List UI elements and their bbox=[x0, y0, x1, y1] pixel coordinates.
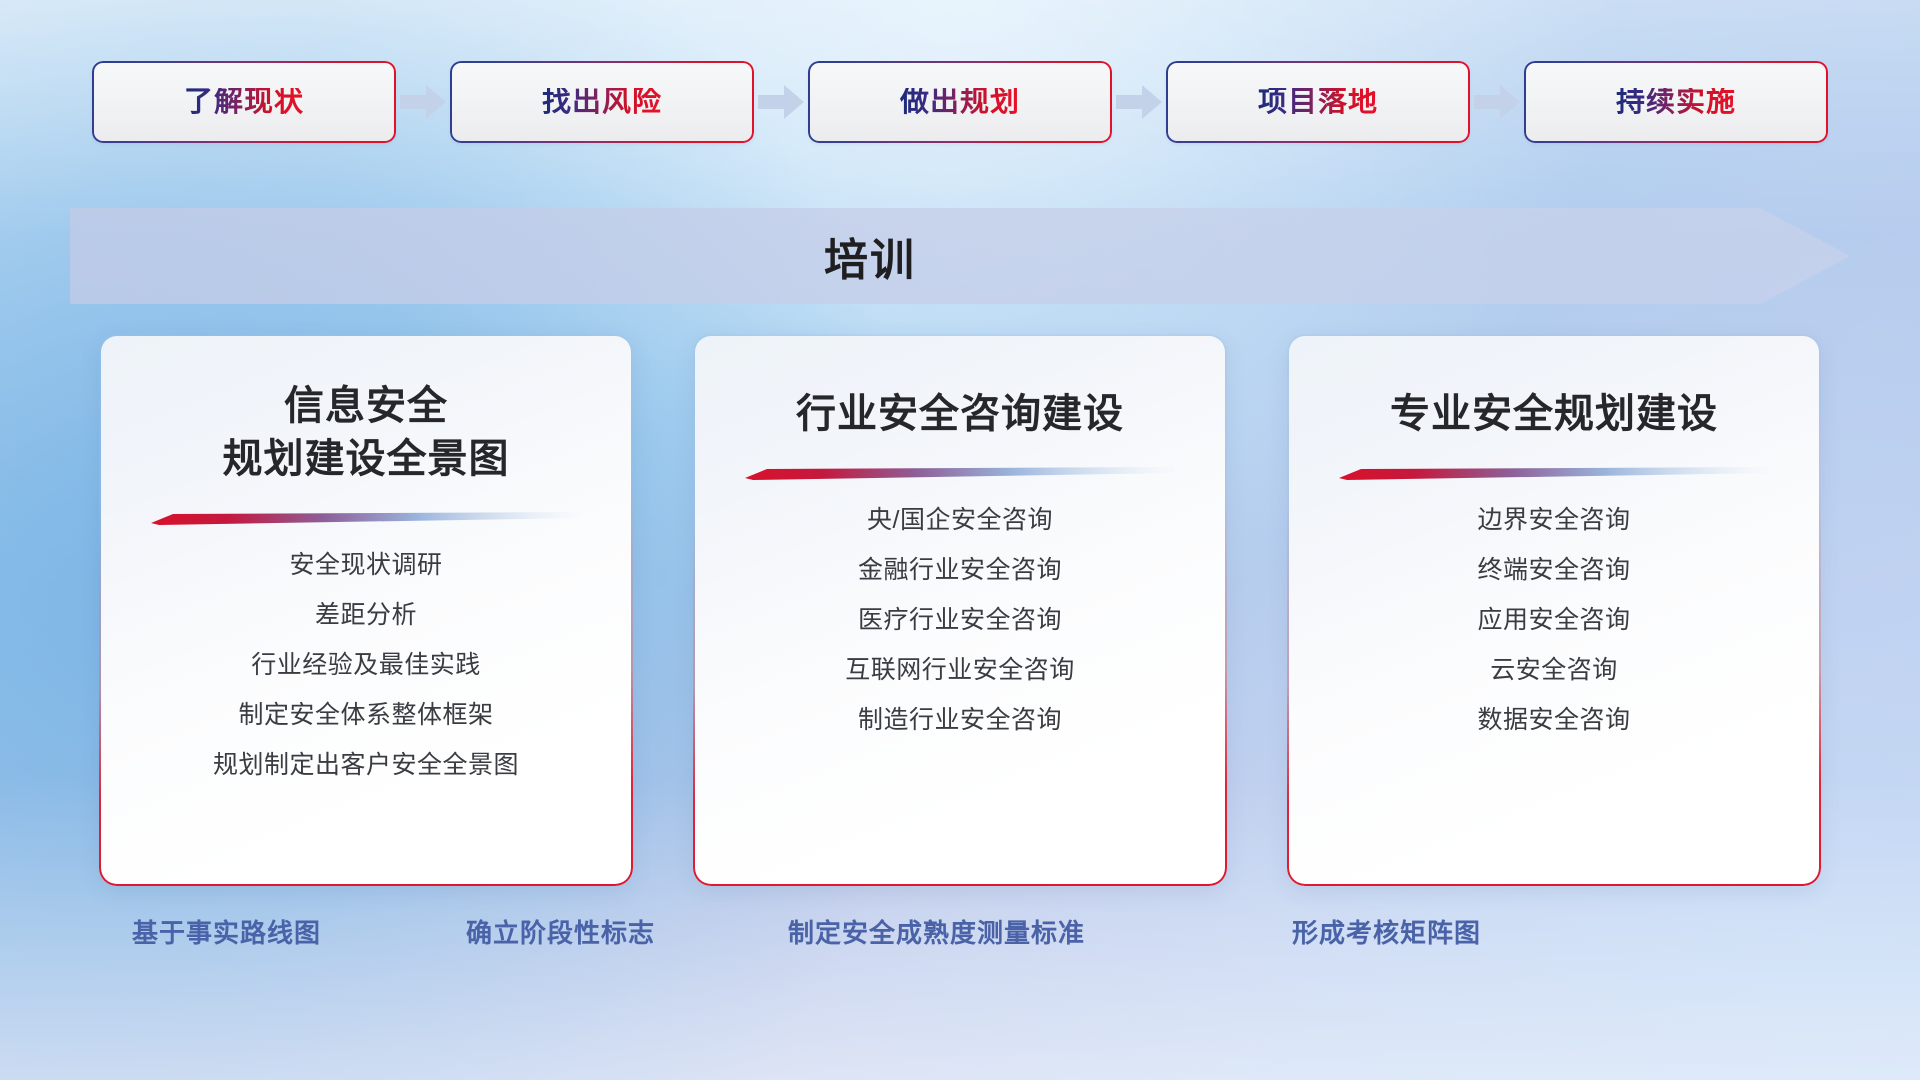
card-2-title: 行业安全咨询建设 bbox=[796, 388, 1124, 441]
training-banner-title-wrap: 培训 bbox=[0, 208, 1740, 304]
list-item: 行业经验及最佳实践 bbox=[251, 653, 481, 678]
caption-3: 制定安全成熟度测量标准 bbox=[788, 908, 1085, 954]
caption-row: 基于事实路线图 确立阶段性标志 制定安全成熟度测量标准 形成考核矩阵图 bbox=[0, 908, 1920, 978]
process-step-4[interactable]: 项目落地 bbox=[1168, 63, 1468, 141]
card-1-list: 安全现状调研 差距分析 行业经验及最佳实践 制定安全体系整体框架 规划制定出客户… bbox=[101, 553, 631, 803]
card-2-list: 央/国企安全咨询 金融行业安全咨询 医疗行业安全咨询 互联网行业安全咨询 制造行… bbox=[695, 508, 1225, 758]
process-step-2-label: 找出风险 bbox=[542, 88, 662, 117]
list-item: 金融行业安全咨询 bbox=[858, 558, 1062, 583]
card-1-divider bbox=[151, 512, 581, 525]
list-item: 应用安全咨询 bbox=[1477, 608, 1630, 633]
process-step-5[interactable]: 持续实施 bbox=[1526, 63, 1826, 141]
card-3-title-line-1: 专业安全规划建设 bbox=[1390, 388, 1718, 441]
list-item: 规划制定出客户安全全景图 bbox=[213, 753, 519, 778]
list-item: 互联网行业安全咨询 bbox=[845, 658, 1075, 683]
caption-1: 基于事实路线图 bbox=[132, 908, 321, 954]
list-item: 制定安全体系整体框架 bbox=[238, 703, 493, 728]
card-row: 信息安全 规划建设全景图 bbox=[0, 336, 1920, 888]
process-step-1[interactable]: 了解现状 bbox=[94, 63, 394, 141]
card-3-divider bbox=[1339, 467, 1769, 480]
process-step-3-label: 做出规划 bbox=[900, 88, 1020, 117]
arrow-right-icon bbox=[752, 80, 810, 124]
caption-4: 形成考核矩阵图 bbox=[1292, 908, 1481, 954]
process-step-5-label: 持续实施 bbox=[1616, 88, 1736, 117]
card-info-security-panorama[interactable]: 信息安全 规划建设全景图 bbox=[101, 336, 631, 884]
list-item: 终端安全咨询 bbox=[1477, 558, 1630, 583]
process-step-1-label: 了解现状 bbox=[184, 88, 304, 117]
arrow-right-icon bbox=[1468, 80, 1526, 124]
list-item: 央/国企安全咨询 bbox=[867, 508, 1053, 533]
caption-2: 确立阶段性标志 bbox=[466, 908, 655, 954]
list-item: 医疗行业安全咨询 bbox=[858, 608, 1062, 633]
list-item: 安全现状调研 bbox=[289, 553, 442, 578]
card-2-title-line-1: 行业安全咨询建设 bbox=[796, 388, 1124, 441]
card-2-divider bbox=[745, 467, 1175, 480]
process-step-4-label: 项目落地 bbox=[1258, 88, 1378, 117]
arrow-right-icon bbox=[1110, 80, 1168, 124]
list-item: 云安全咨询 bbox=[1490, 658, 1618, 683]
process-step-3[interactable]: 做出规划 bbox=[810, 63, 1110, 141]
list-item: 边界安全咨询 bbox=[1477, 508, 1630, 533]
process-step-2[interactable]: 找出风险 bbox=[452, 63, 752, 141]
card-1-title-line-1: 信息安全 bbox=[223, 380, 510, 433]
card-professional-security-planning[interactable]: 专业安全规划建设 bbox=[1289, 336, 1819, 884]
card-3-title: 专业安全规划建设 bbox=[1390, 388, 1718, 441]
card-3-list: 边界安全咨询 终端安全咨询 应用安全咨询 云安全咨询 数据安全咨询 bbox=[1289, 508, 1819, 758]
training-banner-title: 培训 bbox=[824, 224, 916, 288]
arrow-right-icon bbox=[394, 80, 452, 124]
list-item: 差距分析 bbox=[315, 603, 417, 628]
card-1-title-line-2: 规划建设全景图 bbox=[223, 433, 510, 486]
list-item: 数据安全咨询 bbox=[1477, 708, 1630, 733]
card-industry-security-consulting[interactable]: 行业安全咨询建设 bbox=[695, 336, 1225, 884]
card-1-title: 信息安全 规划建设全景图 bbox=[223, 380, 510, 486]
process-step-row: 了解现状 找出风险 做出规划 项目落地 持续实施 bbox=[0, 56, 1920, 148]
list-item: 制造行业安全咨询 bbox=[858, 708, 1062, 733]
